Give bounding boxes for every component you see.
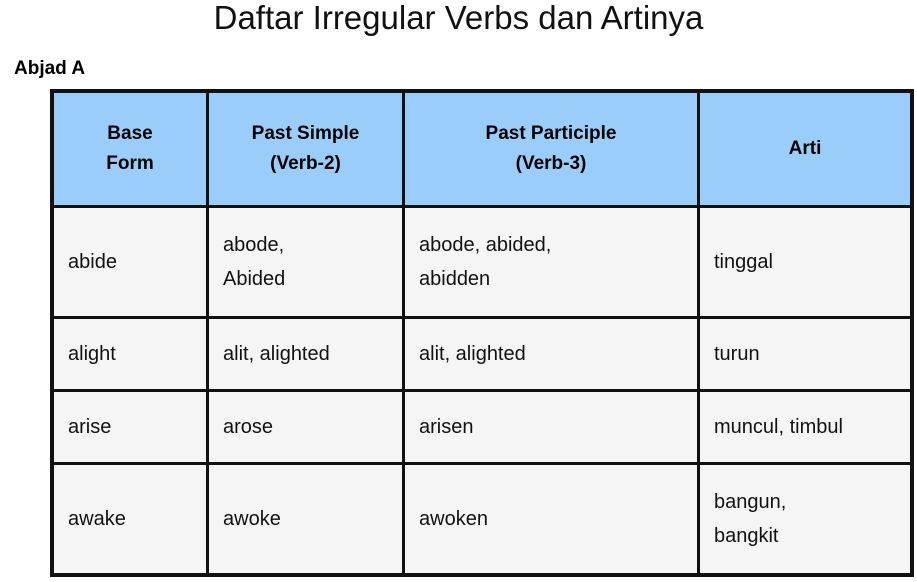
cell-arti: turun	[700, 319, 910, 392]
cell-past-participle: alit, alighted	[405, 319, 700, 392]
cell-arti-line2: bangkit	[714, 519, 900, 553]
cell-past-simple-line1: arose	[223, 410, 392, 444]
column-header-past-participle-line2: (Verb-3)	[411, 149, 691, 179]
column-header-base-form: Base Form	[54, 93, 209, 208]
cell-past-simple: abode, Abided	[209, 208, 405, 319]
cell-past-simple: arose	[209, 392, 405, 465]
cell-arti-line1: muncul, timbul	[714, 410, 900, 444]
cell-arti: bangun, bangkit	[700, 465, 910, 573]
cell-base-form: arise	[54, 392, 209, 465]
cell-past-simple-line2: Abided	[223, 262, 392, 296]
cell-past-participle-line1: arisen	[419, 410, 687, 444]
cell-base-form: awake	[54, 465, 209, 573]
cell-past-participle-line1: alit, alighted	[419, 337, 687, 371]
cell-base-form-line1: awake	[68, 502, 196, 536]
cell-past-simple: alit, alighted	[209, 319, 405, 392]
cell-past-participle-line2: abidden	[419, 262, 687, 296]
cell-base-form-line1: abide	[68, 245, 196, 279]
cell-past-simple-line1: awoke	[223, 502, 392, 536]
table-row: abide abode, Abided abode, abided, abidd…	[54, 208, 910, 319]
table-body: abide abode, Abided abode, abided, abidd…	[54, 208, 910, 573]
cell-arti-line1: turun	[714, 337, 900, 371]
column-header-past-participle-line1: Past Participle	[411, 119, 691, 149]
cell-past-participle: awoken	[405, 465, 700, 573]
column-header-arti: Arti	[700, 93, 910, 208]
cell-past-participle: abode, abided, abidden	[405, 208, 700, 319]
column-header-past-simple-line2: (Verb-2)	[215, 149, 396, 179]
table-row: arise arose arisen muncul, timbul	[54, 392, 910, 465]
cell-base-form-line1: arise	[68, 410, 196, 444]
table-header-row: Base Form Past Simple (Verb-2) Past Part…	[54, 93, 910, 208]
cell-base-form-line1: alight	[68, 337, 196, 371]
cell-base-form: alight	[54, 319, 209, 392]
cell-past-simple-line1: abode,	[223, 228, 392, 262]
column-header-base-form-line2: Form	[60, 149, 200, 179]
table-row: alight alit, alighted alit, alighted tur…	[54, 319, 910, 392]
section-label-abjad: Abjad A	[14, 57, 85, 81]
cell-past-participle-line1: abode, abided,	[419, 228, 687, 262]
table-header: Base Form Past Simple (Verb-2) Past Part…	[54, 93, 910, 208]
column-header-arti-line1: Arti	[706, 134, 904, 164]
table-row: awake awoke awoken bangun, bangkit	[54, 465, 910, 573]
column-header-past-participle: Past Participle (Verb-3)	[405, 93, 700, 208]
irregular-verbs-table: Base Form Past Simple (Verb-2) Past Part…	[50, 89, 914, 577]
page-title: Daftar Irregular Verbs dan Artinya	[0, 0, 917, 38]
cell-past-participle-line1: awoken	[419, 502, 687, 536]
cell-arti: muncul, timbul	[700, 392, 910, 465]
cell-past-simple-line1: alit, alighted	[223, 337, 392, 371]
cell-past-simple: awoke	[209, 465, 405, 573]
cell-arti-line1: tinggal	[714, 245, 900, 279]
column-header-base-form-line1: Base	[60, 119, 200, 149]
page-root: Daftar Irregular Verbs dan Artinya Abjad…	[0, 0, 917, 582]
cell-past-participle: arisen	[405, 392, 700, 465]
cell-arti-line1: bangun,	[714, 485, 900, 519]
column-header-past-simple-line1: Past Simple	[215, 119, 396, 149]
irregular-verbs-table-wrapper: Base Form Past Simple (Verb-2) Past Part…	[50, 89, 906, 577]
cell-arti: tinggal	[700, 208, 910, 319]
column-header-past-simple: Past Simple (Verb-2)	[209, 93, 405, 208]
cell-base-form: abide	[54, 208, 209, 319]
